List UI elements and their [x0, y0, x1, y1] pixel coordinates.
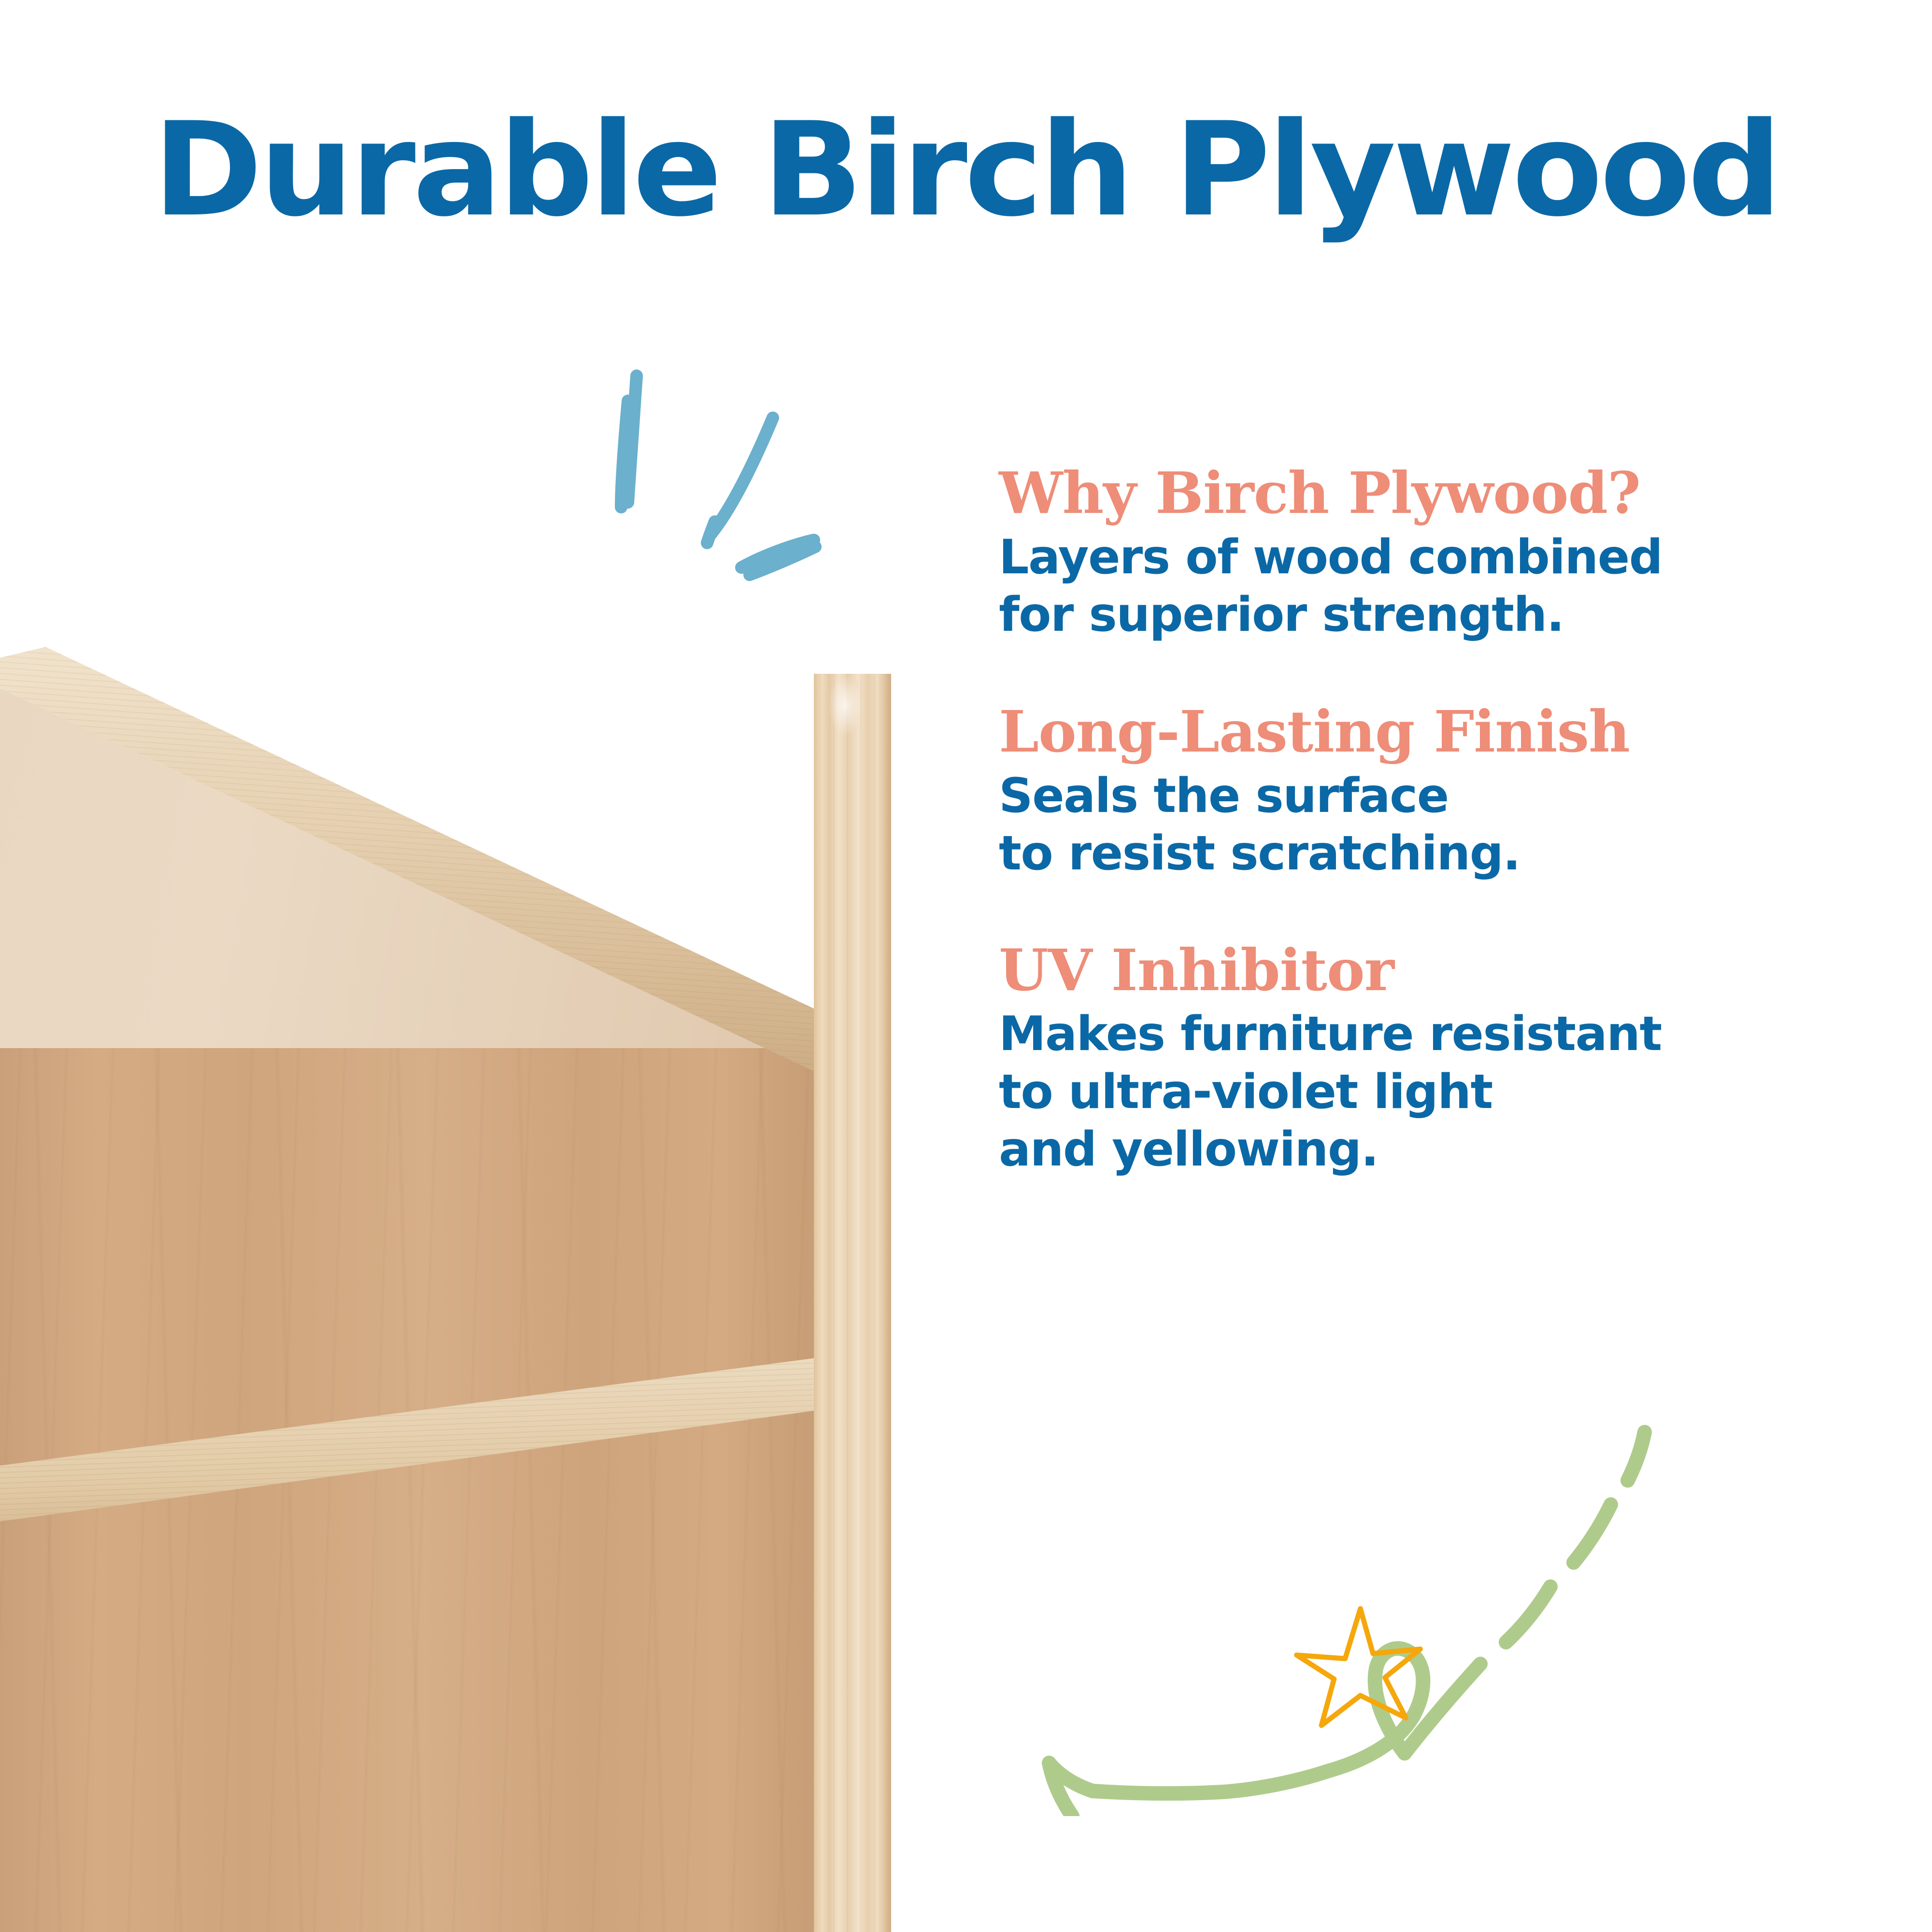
feature-body-line: Layers of wood combined: [999, 529, 1849, 587]
flourish-svg: [1005, 1415, 1777, 1816]
feature-body-line: and yellowing.: [999, 1121, 1849, 1179]
sparkle-lines-icon: [570, 348, 908, 599]
feature-body: Layers of wood combined for superior str…: [999, 529, 1849, 644]
plywood-corner-highlight: [828, 674, 862, 737]
feature-list: Why Birch Plywood? Layers of wood combin…: [999, 464, 1849, 1179]
feature-body: Makes furniture resistant to ultra-viole…: [999, 1006, 1849, 1179]
plywood-cabinet-illustration: [0, 447, 891, 1932]
feature-body-line: for superior strength.: [999, 586, 1849, 644]
feature-body-line: Makes furniture resistant: [999, 1006, 1849, 1064]
poster-canvas: Durable Birch Plywood: [0, 0, 1932, 1932]
feature-body: Seals the surface to resist scratching.: [999, 767, 1849, 883]
page-title: Durable Birch Plywood: [0, 105, 1932, 235]
product-photo: [0, 447, 891, 1932]
feature-item: UV Inhibitor Makes furniture resistant t…: [999, 941, 1849, 1179]
curved-dashed-arrow-icon: [1049, 1432, 1645, 1816]
feature-body-line: Seals the surface: [999, 767, 1849, 825]
feature-title: Why Birch Plywood?: [999, 464, 1849, 523]
feature-body-line: to resist scratching.: [999, 825, 1849, 883]
feature-title: UV Inhibitor: [999, 941, 1849, 1000]
feature-body-line: to ultra-violet light: [999, 1064, 1849, 1122]
sparkle-svg: [570, 348, 908, 599]
plywood-right-face-plies: [814, 630, 891, 1932]
feature-item: Long-Lasting Finish Seals the surface to…: [999, 702, 1849, 883]
feature-item: Why Birch Plywood? Layers of wood combin…: [999, 464, 1849, 644]
feature-title: Long-Lasting Finish: [999, 702, 1849, 762]
hand-drawn-star-icon: [1297, 1609, 1421, 1726]
decorative-flourish: [1005, 1415, 1777, 1816]
